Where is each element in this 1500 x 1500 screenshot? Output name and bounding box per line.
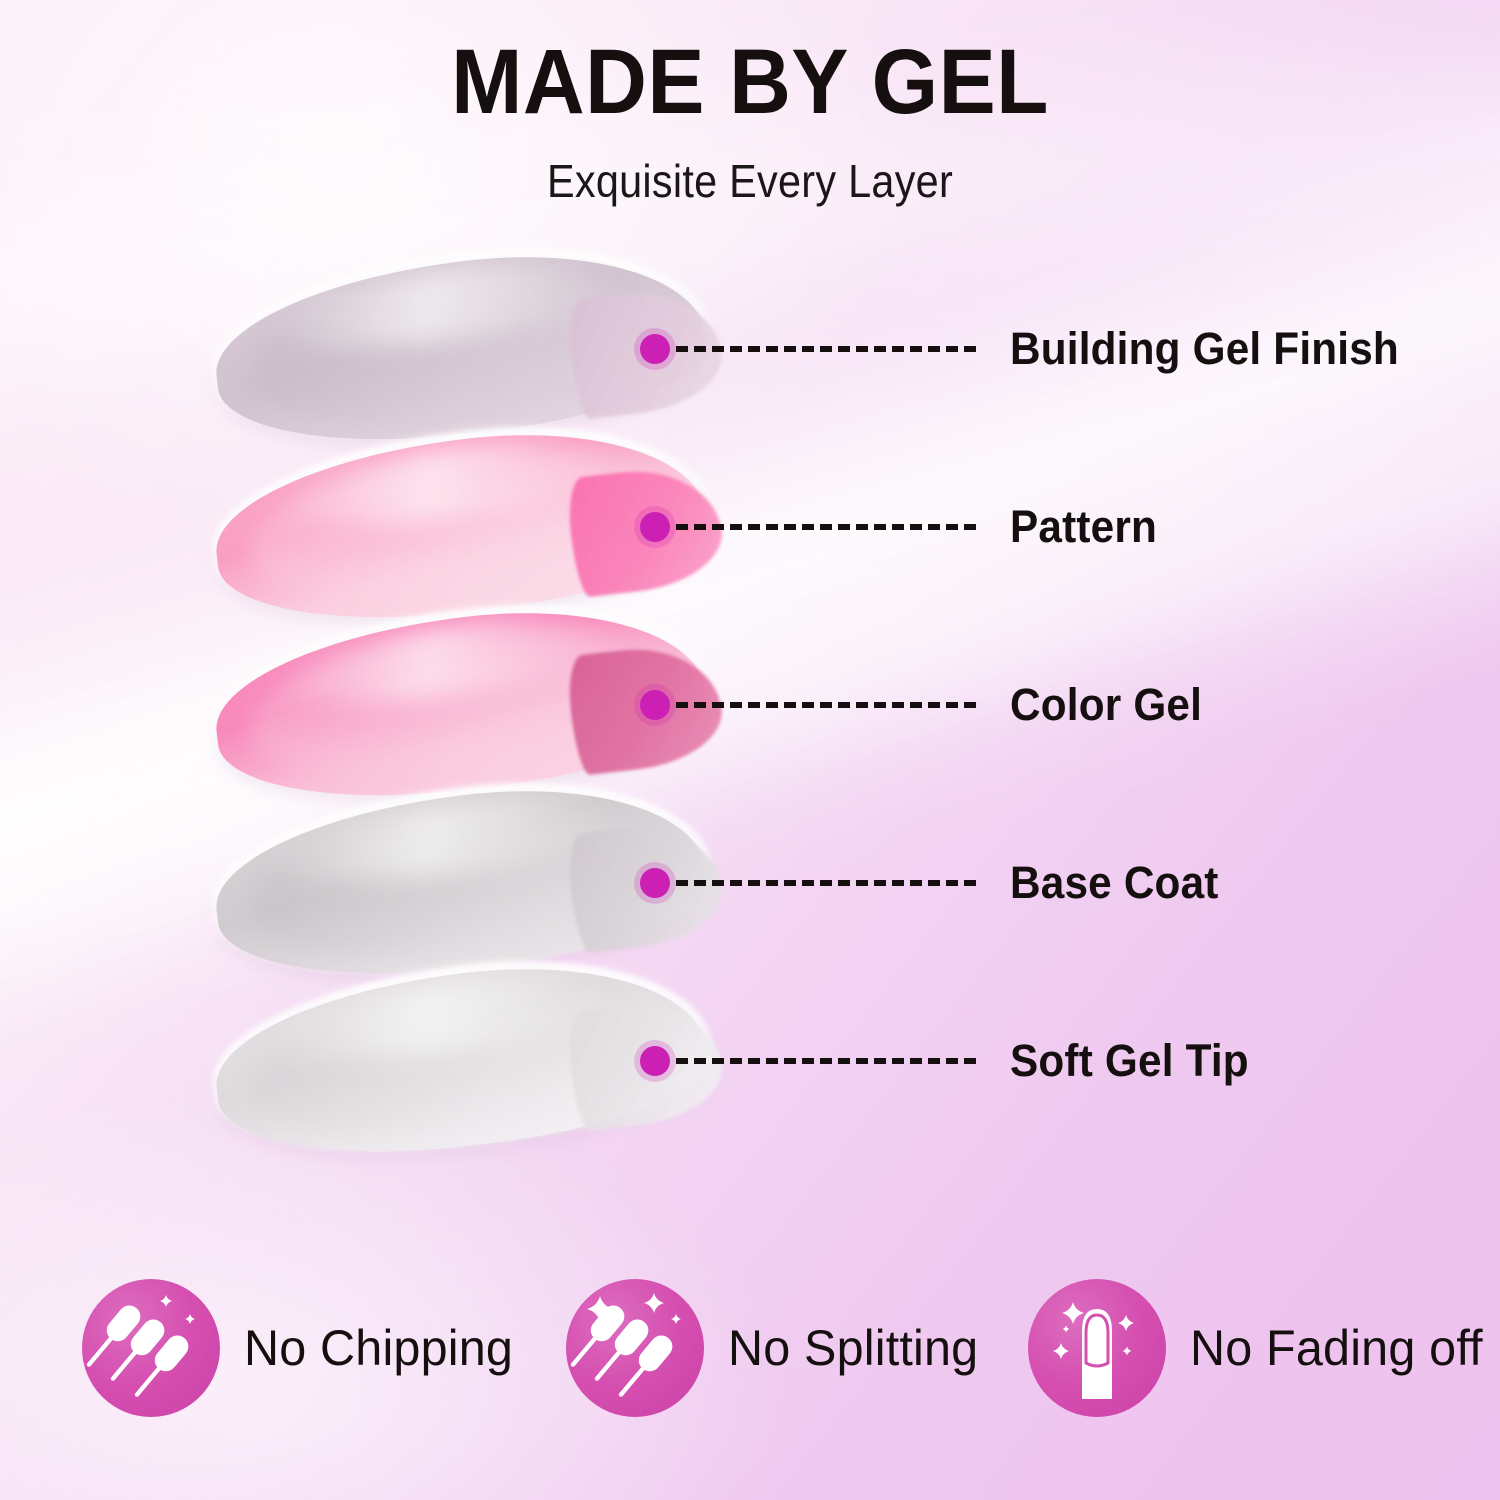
feature-row: No ChippingNo SplittingNo Fading off xyxy=(0,1262,1500,1434)
layer-label-pattern: Pattern xyxy=(1010,501,1157,553)
callout-dashed-line xyxy=(676,702,976,708)
layer-callout-soft-gel-tip: Soft Gel Tip xyxy=(640,1044,1264,1078)
three-nails-icon xyxy=(82,1279,220,1417)
layer-callout-base-coat: Base Coat xyxy=(640,866,1232,900)
feature-label-no-splitting: No Splitting xyxy=(728,1319,978,1377)
gel-layer-stack: Building Gel FinishPatternColor GelBase … xyxy=(0,248,1500,1188)
callout-dot-icon xyxy=(640,512,670,542)
finger-nail-sparkle-icon xyxy=(1028,1279,1166,1417)
layer-label-building-gel-finish: Building Gel Finish xyxy=(1010,323,1399,375)
layer-label-soft-gel-tip: Soft Gel Tip xyxy=(1010,1035,1249,1087)
callout-dot-icon xyxy=(640,868,670,898)
callout-dot-icon xyxy=(640,334,670,364)
callout-dashed-line xyxy=(676,1058,976,1064)
infographic-canvas: MADE BY GEL Exquisite Every Layer Buildi… xyxy=(0,0,1500,1500)
header: MADE BY GEL Exquisite Every Layer xyxy=(0,0,1500,208)
callout-dashed-line xyxy=(676,880,976,886)
feature-no-splitting: No Splitting xyxy=(566,1279,986,1417)
layer-label-color-gel: Color Gel xyxy=(1010,679,1202,731)
layer-callout-color-gel: Color Gel xyxy=(640,688,1214,722)
feature-no-chipping: No Chipping xyxy=(82,1279,521,1417)
callout-dashed-line xyxy=(676,346,976,352)
feature-badge-no-chipping xyxy=(82,1279,220,1417)
callout-dot-icon xyxy=(640,690,670,720)
three-nails-sparkle-icon xyxy=(566,1279,704,1417)
feature-badge-no-fading-off xyxy=(1028,1279,1166,1417)
layer-callout-building-gel-finish: Building Gel Finish xyxy=(640,332,1424,366)
layer-label-base-coat: Base Coat xyxy=(1010,857,1219,909)
page-subtitle: Exquisite Every Layer xyxy=(75,130,1425,208)
layer-callout-pattern: Pattern xyxy=(640,510,1166,544)
feature-badge-no-splitting xyxy=(566,1279,704,1417)
feature-no-fading-off: No Fading off xyxy=(1028,1279,1492,1417)
callout-dashed-line xyxy=(676,524,976,530)
feature-label-no-chipping: No Chipping xyxy=(244,1319,513,1377)
callout-dot-icon xyxy=(640,1046,670,1076)
page-title: MADE BY GEL xyxy=(53,0,1448,130)
feature-label-no-fading-off: No Fading off xyxy=(1190,1319,1483,1377)
